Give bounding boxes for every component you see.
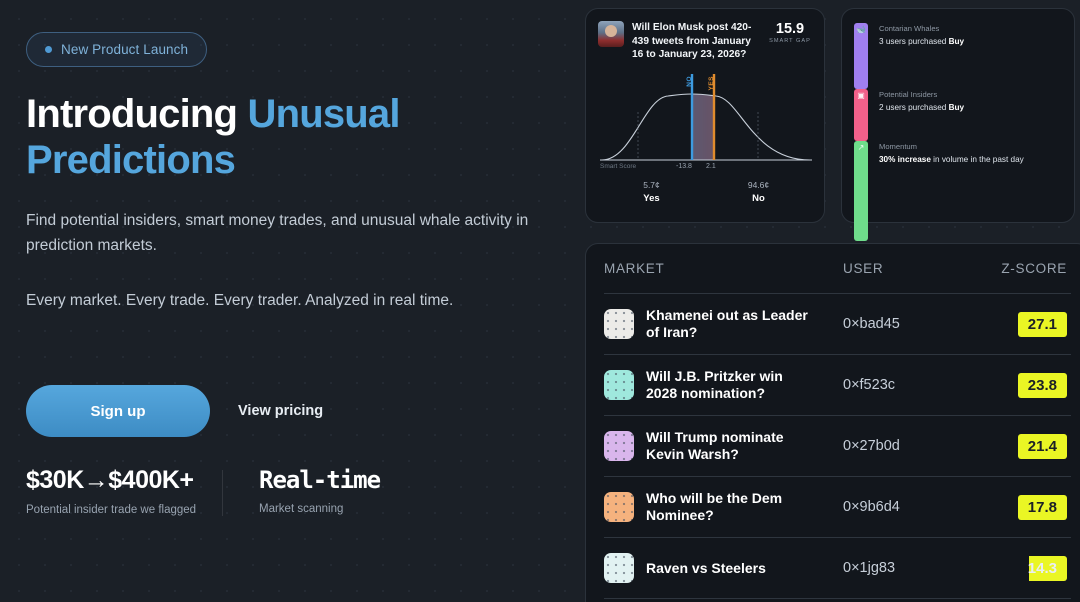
stat-label: Potential insider trade we flagged <box>26 504 231 516</box>
user-cell: 0×1jg83 <box>843 560 961 576</box>
signal-row[interactable]: 🐋 Contarian Whales 3 users purchased Buy <box>854 23 1060 89</box>
smart-gap-metric: 15.9 SMART GAP <box>768 21 812 44</box>
market-avatar-tile <box>604 431 634 461</box>
stat-value: $30K→$400K+ <box>26 466 231 495</box>
smart-gap-label: SMART GAP <box>768 38 812 44</box>
market-avatar-tile <box>604 492 634 522</box>
zscore-cell: 21.4 <box>961 434 1071 459</box>
smart-gap-value: 15.9 <box>768 21 812 37</box>
signal-title: Potential Insiders <box>879 90 1060 99</box>
signal-row[interactable]: ↗ Momentum 30% increase in volume in the… <box>854 141 1060 185</box>
zscore-cell: 14.3 <box>961 556 1071 581</box>
table-row[interactable]: Will Trump nominate Kevin Warsh? 0×27b0d… <box>604 416 1071 477</box>
zscore-badge: 21.4 <box>1018 434 1067 459</box>
zscore-badge: 23.8 <box>1018 373 1067 398</box>
signal-text-lead: 2 users purchased <box>879 103 949 112</box>
price-side: No <box>705 193 812 204</box>
market-question: Will Elon Musk post 420-439 tweets from … <box>632 21 760 62</box>
yes-marker-label: YES <box>708 76 715 91</box>
stat-item: $30K→$400K+ Potential insider trade we f… <box>26 466 231 516</box>
table-row[interactable]: Raven vs Steelers 0×1jg83 14.3 <box>604 538 1071 599</box>
signal-title: Momentum <box>879 142 1060 151</box>
signal-text-tail: in volume in the past day <box>931 155 1024 164</box>
price-value: 94.6¢ <box>705 180 812 190</box>
signal-text-lead: 3 users purchased <box>879 37 949 46</box>
user-cell: 0×bad45 <box>843 316 961 332</box>
zscore-badge: 27.1 <box>1018 312 1067 337</box>
stat-divider <box>222 470 223 516</box>
zscore-cell: 23.8 <box>961 373 1071 398</box>
table-header-row: MARKET USER Z-SCORE <box>604 244 1071 294</box>
market-cell: Khamenei out as Leader of Iran? <box>604 307 843 341</box>
badge-label: New Product Launch <box>61 42 188 57</box>
whale-icon: 🐋 <box>854 26 868 34</box>
status-dot-icon <box>45 46 52 53</box>
x-axis-label: Smart Score <box>600 163 636 170</box>
signal-text-bold: Buy <box>949 37 964 46</box>
price-no[interactable]: 94.6¢ No <box>705 180 812 204</box>
market-title: Who will be the Dem Nominee? <box>646 490 816 524</box>
user-cell: 0×9b6d4 <box>843 499 961 515</box>
column-header-market: MARKET <box>604 261 843 276</box>
signal-text-bold: Buy <box>949 103 964 112</box>
signal-body: Contarian Whales 3 users purchased Buy <box>879 23 1060 89</box>
signal-text: 3 users purchased Buy <box>879 37 1060 46</box>
user-cell: 0×27b0d <box>843 438 961 454</box>
signal-title: Contarian Whales <box>879 24 1060 33</box>
new-product-launch-badge[interactable]: New Product Launch <box>26 32 207 67</box>
signal-row[interactable]: ▣ Potential Insiders 2 users purchased B… <box>854 89 1060 141</box>
chart-card-header: Will Elon Musk post 420-439 tweets from … <box>598 21 812 62</box>
market-cell: Will Trump nominate Kevin Warsh? <box>604 429 843 463</box>
column-header-zscore: Z-SCORE <box>961 261 1071 276</box>
zscore-badge: 14.3 <box>1018 556 1067 581</box>
market-avatar-tile <box>604 370 634 400</box>
cta-row: Sign up View pricing <box>26 385 323 437</box>
market-chart-card[interactable]: Will Elon Musk post 420-439 tweets from … <box>585 8 825 223</box>
page-root: New Product Launch Introducing Unusual P… <box>0 0 1080 602</box>
hero-paragraph-2: Every market. Every trade. Every trader.… <box>26 288 538 313</box>
signals-card[interactable]: 🐋 Contarian Whales 3 users purchased Buy… <box>841 8 1075 223</box>
price-yes[interactable]: 5.7¢ Yes <box>598 180 705 204</box>
hero-stats: $30K→$400K+ Potential insider trade we f… <box>26 466 380 516</box>
signal-color-bar: 🐋 <box>854 23 868 89</box>
trend-up-icon: ↗ <box>854 144 868 152</box>
no-marker-label: NO <box>686 76 693 87</box>
leaderboard-table-card[interactable]: MARKET USER Z-SCORE Khamenei out as Lead… <box>585 243 1080 602</box>
market-avatar <box>598 21 624 47</box>
signal-color-bar: ↗ <box>854 141 868 241</box>
market-title: Will J.B. Pritzker win 2028 nomination? <box>646 368 816 402</box>
smart-score-distribution-chart: NO YES Smart Score -13.8 2.1 <box>598 68 812 178</box>
zscore-badge: 17.8 <box>1018 495 1067 520</box>
market-title: Will Trump nominate Kevin Warsh? <box>646 429 816 463</box>
signal-text: 2 users purchased Buy <box>879 103 1060 112</box>
market-title: Khamenei out as Leader of Iran? <box>646 307 816 341</box>
market-cell: Raven vs Steelers <box>604 553 843 583</box>
view-pricing-button[interactable]: View pricing <box>238 403 323 419</box>
stat-label: Market scanning <box>259 503 380 515</box>
bell-curve-svg <box>598 68 814 178</box>
sign-up-button[interactable]: Sign up <box>26 385 210 437</box>
stat-item: Real-time Market scanning <box>259 466 380 516</box>
price-side: Yes <box>598 193 705 204</box>
signal-text-bold: 30% increase <box>879 155 931 164</box>
user-cell: 0×f523c <box>843 377 961 393</box>
zscore-cell: 17.8 <box>961 495 1071 520</box>
column-header-user: USER <box>843 261 961 276</box>
market-avatar-tile <box>604 553 634 583</box>
market-prices: 5.7¢ Yes 94.6¢ No <box>598 180 812 204</box>
signal-body: Momentum 30% increase in volume in the p… <box>879 141 1060 185</box>
id-badge-icon: ▣ <box>854 92 868 100</box>
market-cell: Who will be the Dem Nominee? <box>604 490 843 524</box>
signal-body: Potential Insiders 2 users purchased Buy <box>879 89 1060 141</box>
table-row[interactable]: Will J.B. Pritzker win 2028 nomination? … <box>604 355 1071 416</box>
market-cell: Will J.B. Pritzker win 2028 nomination? <box>604 368 843 402</box>
signal-text: 30% increase in volume in the past day <box>879 155 1060 164</box>
table-row[interactable]: Who will be the Dem Nominee? 0×9b6d4 17.… <box>604 477 1071 538</box>
price-value: 5.7¢ <box>598 180 705 190</box>
hero-paragraph-1: Find potential insiders, smart money tra… <box>26 208 538 258</box>
signal-color-bar: ▣ <box>854 89 868 141</box>
hero-section: New Product Launch Introducing Unusual P… <box>26 0 566 602</box>
stat-value: Real-time <box>259 466 380 494</box>
page-title: Introducing Unusual Predictions <box>26 92 526 183</box>
market-title: Raven vs Steelers <box>646 560 766 577</box>
zscore-cell: 27.1 <box>961 312 1071 337</box>
market-avatar-tile <box>604 309 634 339</box>
yes-tick-value: 2.1 <box>706 163 716 170</box>
no-tick-value: -13.8 <box>676 163 692 170</box>
table-row[interactable]: Khamenei out as Leader of Iran? 0×bad45 … <box>604 294 1071 355</box>
headline-lead: Introducing <box>26 92 247 136</box>
